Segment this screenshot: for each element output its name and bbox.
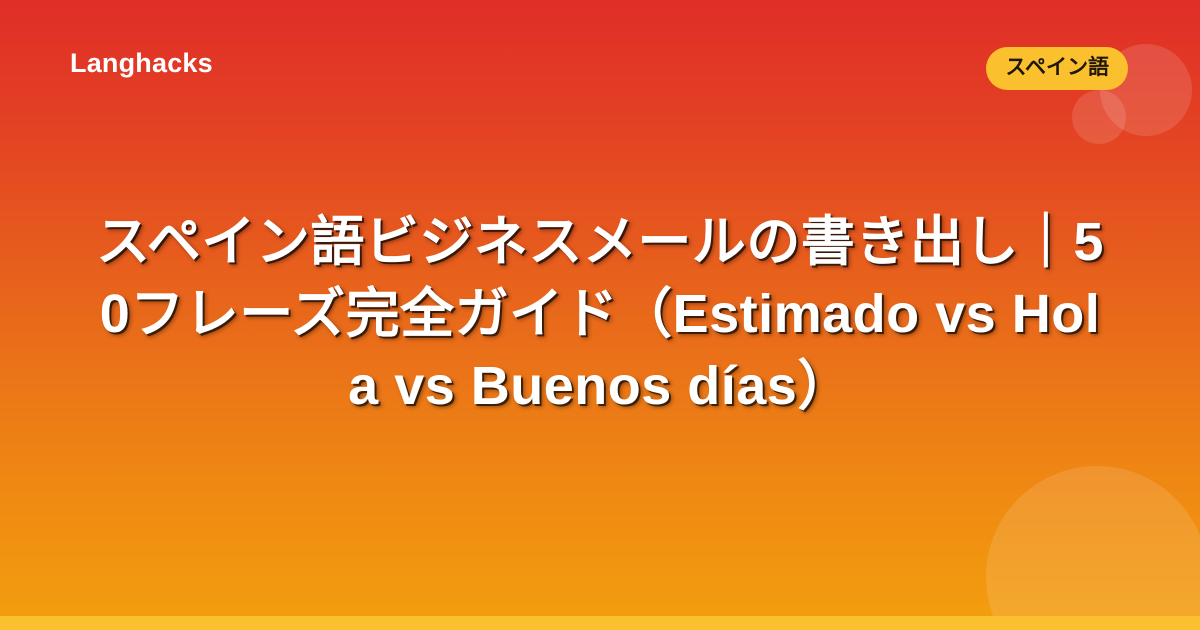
page-title: スペイン語ビジネスメールの書き出し｜50フレーズ完全ガイド（Estimado v…	[85, 207, 1115, 422]
social-share-card: Langhacks スペイン語 スペイン語ビジネスメールの書き出し｜50フレーズ…	[0, 0, 1200, 630]
accent-bar	[0, 616, 1200, 630]
language-badge: スペイン語	[986, 47, 1128, 90]
card-header: Langhacks スペイン語	[0, 0, 1200, 130]
brand-logo-text: Langhacks	[70, 50, 213, 77]
